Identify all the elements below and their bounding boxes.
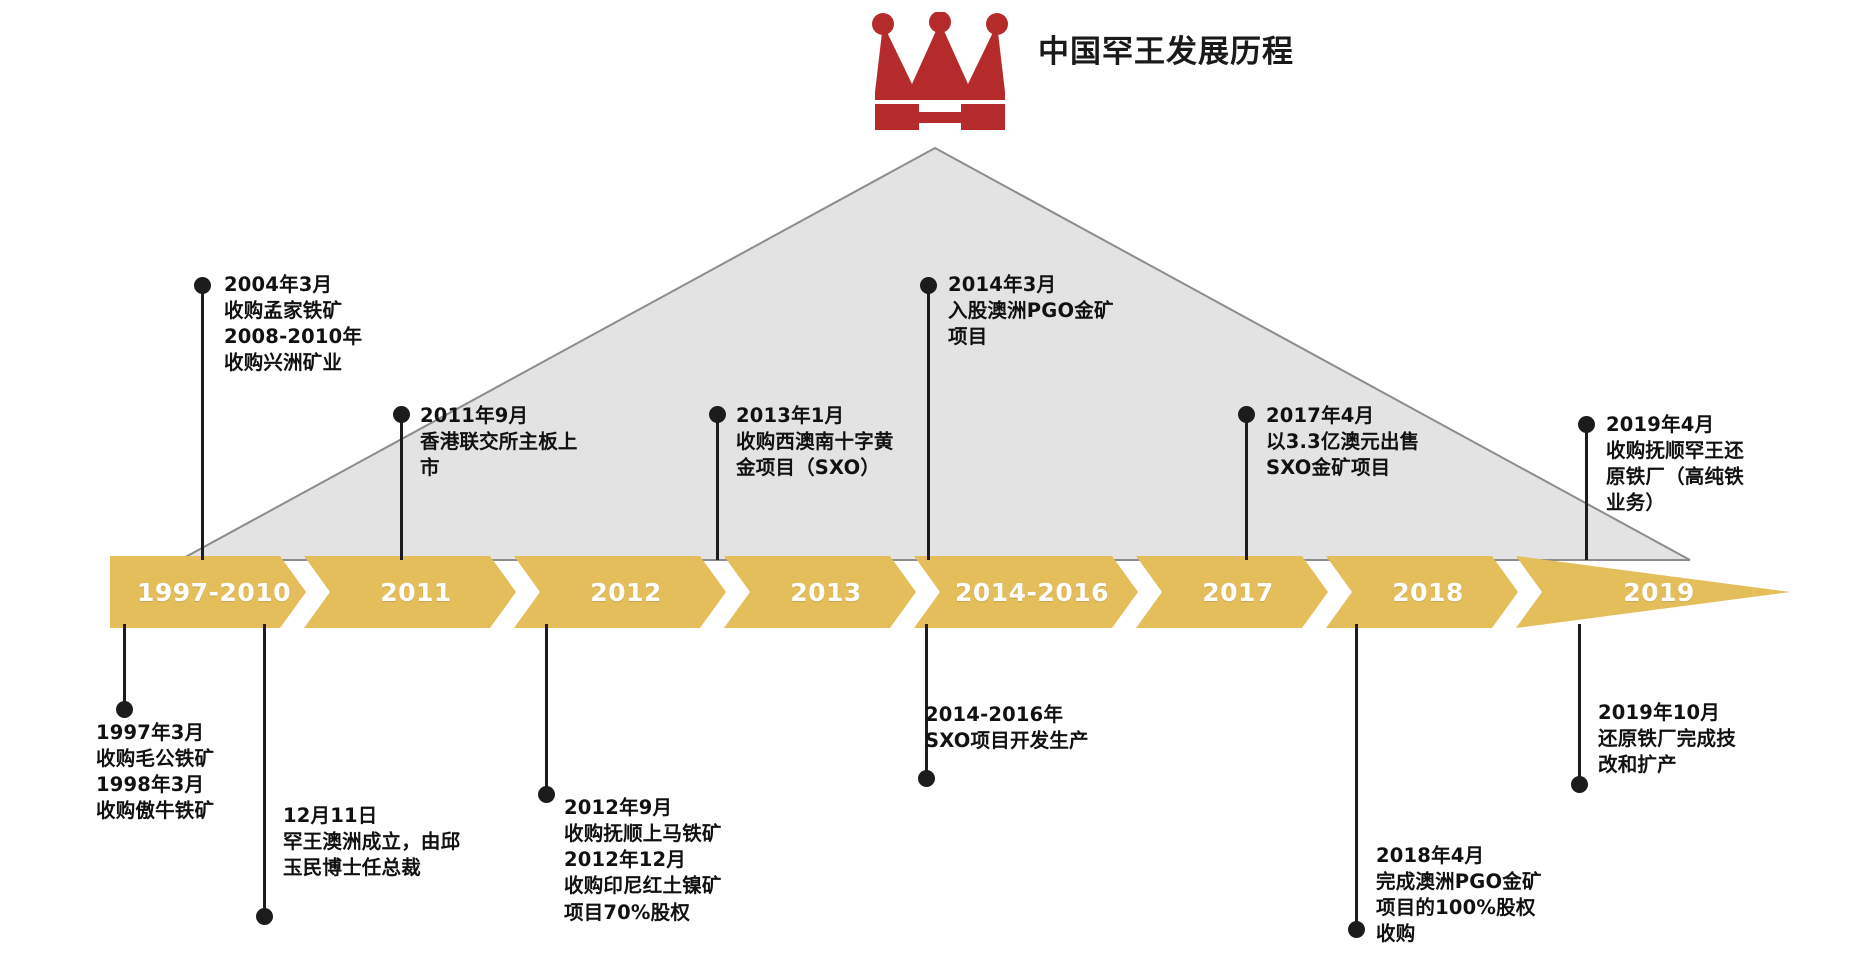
event-note-2004: 2004年3月 收购孟家铁矿 2008-2010年 收购兴洲矿业 (224, 272, 454, 377)
timeline-segment-label: 2019 (1623, 578, 1695, 607)
callout-marker (256, 908, 273, 925)
event-note-2012: 2012年9月 收购抚顺上马铁矿 2012年12月 收购印尼红土镍矿 项目70%… (564, 795, 814, 926)
callout-marker (918, 770, 935, 787)
timeline-segment-label: 2018 (1392, 578, 1464, 607)
timeline-band: 1997-2010 2011 2012 2013 2014-2016 2017 … (110, 556, 1790, 628)
callout-stem (1245, 418, 1248, 560)
event-note-2014: 2014年3月 入股澳洲PGO金矿 项目 (948, 272, 1198, 350)
timeline-segment-label: 2011 (380, 578, 452, 607)
header: 中国罕王发展历程 (860, 12, 1294, 130)
crown-logo-icon (860, 12, 1020, 130)
timeline-segment-label: 2014-2016 (955, 578, 1109, 607)
timeline-diagram: 中国罕王发展历程 1997-2010 2011 2012 2013 2014-2… (0, 0, 1860, 966)
callout-stem (201, 285, 204, 560)
timeline-segment-1[interactable]: 2011 (304, 556, 516, 628)
timeline-segment-label: 1997-2010 (137, 578, 291, 607)
callout-marker (194, 277, 211, 294)
timeline-segment-4[interactable]: 2014-2016 (914, 556, 1138, 628)
event-note-2014-2016: 2014-2016年 SXO项目开发生产 (925, 702, 1205, 754)
event-note-2013: 2013年1月 收购西澳南十字黄 金项目（SXO） (736, 403, 986, 481)
timeline-segment-6[interactable]: 2018 (1326, 556, 1518, 628)
event-note-2019-10: 2019年10月 还原铁厂完成技 改和扩产 (1598, 700, 1848, 778)
callout-marker (1348, 921, 1365, 938)
callout-marker (1578, 416, 1595, 433)
callout-marker (538, 786, 555, 803)
callout-stem (1355, 624, 1358, 929)
timeline-segment-7[interactable]: 2019 (1516, 556, 1790, 628)
timeline-segment-5[interactable]: 2017 (1136, 556, 1328, 628)
callout-marker (393, 406, 410, 423)
timeline-segment-label: 2012 (590, 578, 662, 607)
callout-marker (1238, 406, 1255, 423)
callout-stem (123, 624, 126, 710)
callout-marker (1571, 776, 1588, 793)
callout-stem (925, 624, 928, 778)
callout-stem (545, 624, 548, 794)
event-note-2017: 2017年4月 以3.3亿澳元出售 SXO金矿项目 (1266, 403, 1516, 481)
callout-stem (1578, 624, 1581, 784)
callout-stem (400, 418, 403, 560)
callout-stem (1585, 428, 1588, 560)
callout-marker (709, 406, 726, 423)
callout-stem (716, 418, 719, 560)
event-note-2018: 2018年4月 完成澳洲PGO金矿 项目的100%股权 收购 (1376, 843, 1626, 948)
timeline-segment-0[interactable]: 1997-2010 (110, 556, 306, 628)
timeline-segment-3[interactable]: 2013 (724, 556, 916, 628)
timeline-segment-label: 2013 (790, 578, 862, 607)
callout-stem (263, 624, 266, 916)
callout-stem (927, 290, 930, 560)
timeline-segment-label: 2017 (1202, 578, 1274, 607)
callout-marker (116, 701, 133, 718)
event-note-2019-04: 2019年4月 收购抚顺罕王还 原铁厂（高纯铁 业务） (1606, 412, 1821, 517)
event-note-1211: 12月11日 罕王澳洲成立，由邱 玉民博士任总裁 (283, 803, 533, 881)
event-note-2011: 2011年9月 香港联交所主板上 市 (420, 403, 655, 481)
callout-marker (920, 277, 937, 294)
page-title: 中国罕王发展历程 (1038, 37, 1294, 106)
timeline-segment-2[interactable]: 2012 (514, 556, 726, 628)
